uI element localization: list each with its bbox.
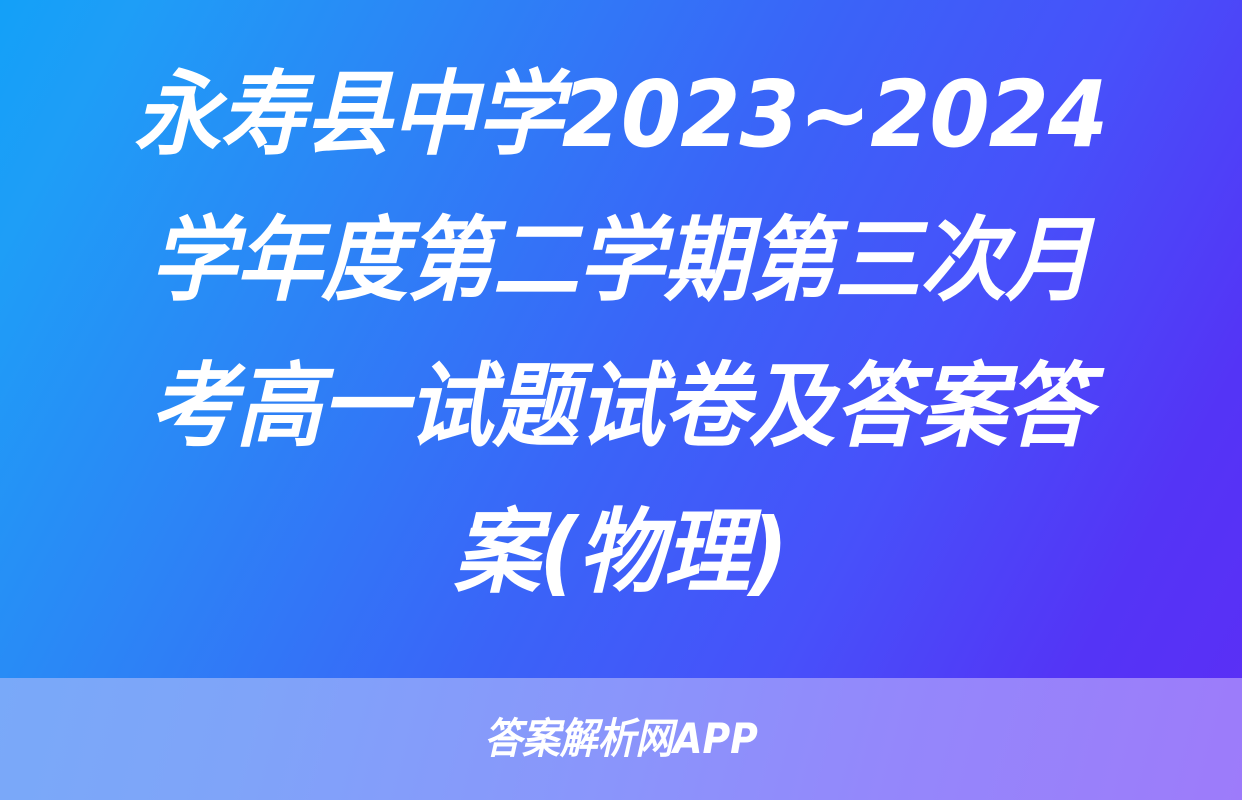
exam-cover-banner: 永寿县中学2023~2024 学年度第二学期第三次月 考高一试题试卷及答案答 案… (0, 0, 1242, 800)
footer-brand-label: 答案解析网APP (484, 718, 758, 760)
exam-title-block: 永寿县中学2023~2024 学年度第二学期第三次月 考高一试题试卷及答案答 案… (0, 0, 1242, 678)
exam-title-line-1: 永寿县中学2023~2024 (134, 42, 1107, 188)
exam-title-line-3: 考高一试题试卷及答案答 (151, 334, 1092, 480)
footer-brand-band: 答案解析网APP (0, 678, 1242, 800)
exam-title-line-4: 案(物理) (454, 480, 788, 626)
exam-title-line-2: 学年度第二学期第三次月 (151, 188, 1092, 334)
